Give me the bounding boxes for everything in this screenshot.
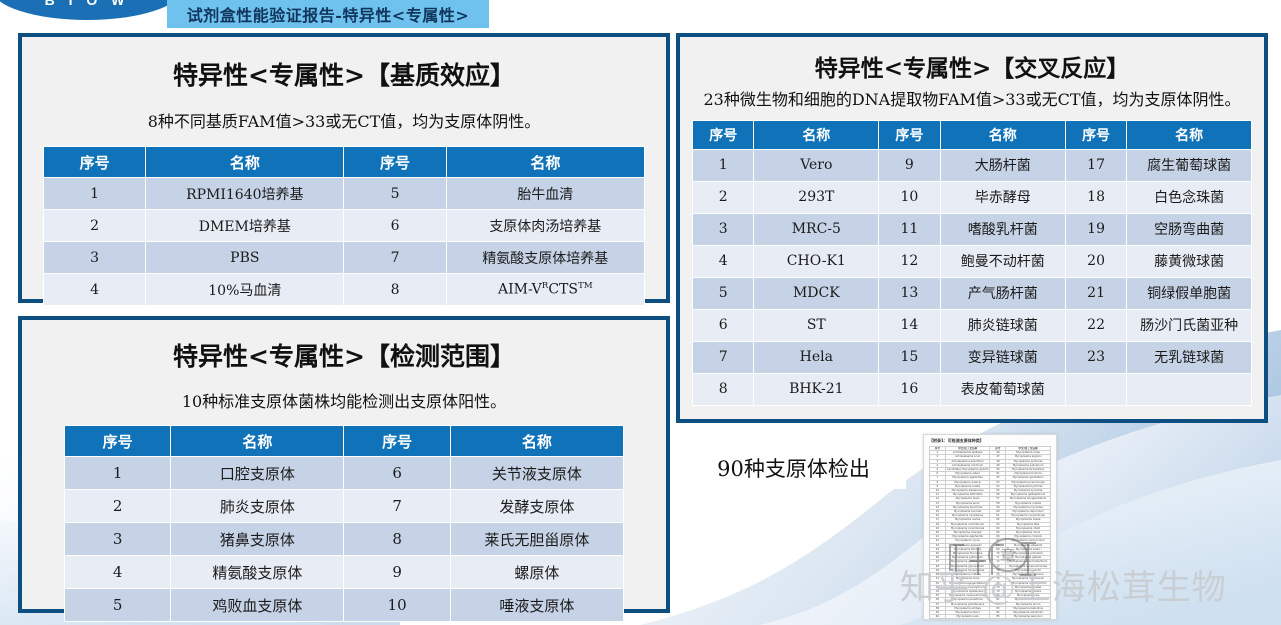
table-cell: 5 [693, 277, 754, 309]
table-cell: 10 [344, 589, 450, 622]
column-header: 序号 [879, 120, 940, 149]
table-cell: Mycoplasma yeatsii [945, 619, 990, 620]
table-cell: 5 [65, 589, 171, 622]
table-cell: Acholeplasma axanthum [945, 459, 990, 463]
panel-matrix-effect: 特异性<专属性>【基质效应】 8种不同基质FAM值>33或无CT值，均为支原体阴… [18, 33, 670, 303]
table-cell: 猪鼻支原体 [171, 523, 344, 556]
table-cell: 16 [879, 373, 940, 405]
table-cell: Hela [754, 341, 879, 373]
panel-cross-table-holder: 序号名称序号名称序号名称 1Vero9大肠杆菌17腐生葡萄球菌2293T10毕赤… [680, 120, 1264, 406]
table-cell: Mycoplasma gallisepticum [1006, 493, 1051, 497]
column-header: 序号 [693, 120, 754, 149]
panel-detection-range: 特异性<专属性>【检测范围】 10种标准支原体菌株均能检测出支原体阳性。 序号名… [18, 316, 670, 613]
table-cell: 19 [1065, 213, 1126, 245]
table-cell: 14 [879, 309, 940, 341]
table-cell: 发酵支原体 [450, 490, 623, 523]
column-header: 序号 [344, 426, 450, 457]
table-cell: 2 [65, 490, 171, 523]
table-cell: 8 [344, 274, 446, 306]
table-row: 1RPMI1640培养基5胎牛血清 [44, 178, 645, 210]
table-cell: 鸡败血支原体 [171, 589, 344, 622]
column-header: 名称 [754, 120, 879, 149]
column-header: 名称 [146, 147, 344, 178]
table-cell: 胎牛血清 [446, 178, 644, 210]
panel-range-table-holder: 序号名称序号名称 1口腔支原体6关节液支原体2肺炎支原体7发酵支原体3猪鼻支原体… [22, 425, 666, 622]
table-cell: 17 [1065, 149, 1126, 181]
table-cell: 15 [879, 341, 940, 373]
cross-reaction-table-body: 1Vero9大肠杆菌17腐生葡萄球菌2293T10毕赤酵母18白色念珠菌3MRC… [693, 149, 1252, 405]
table-cell: 肺炎链球菌 [940, 309, 1065, 341]
matrix-effect-table-body: 1RPMI1640培养基5胎牛血清2DMEM培养基6支原体肉汤培养基3PBS7精… [44, 178, 645, 306]
column-header: 序号 [65, 426, 171, 457]
watermark: 知乎 @上海松茸生物 [900, 560, 1227, 609]
table-cell: 2 [44, 210, 146, 242]
table-row: 3PBS7精氨酸支原体培养基 [44, 242, 645, 274]
table-cell: 3 [693, 213, 754, 245]
table-cell: 10%马血清 [146, 274, 344, 306]
table-cell: 293T [754, 181, 879, 213]
report-title-banner: 试剂盒性能验证报告-特异性<专属性> [167, 0, 489, 28]
table-row: 4精氨酸支原体9螺原体 [65, 556, 624, 589]
table-cell: PBS [146, 242, 344, 274]
table-cell: MDCK [754, 277, 879, 309]
table-cell: 21 [1065, 277, 1126, 309]
table-cell: 变异链球菌 [940, 341, 1065, 373]
table-cell: 铜绿假单胞菌 [1127, 277, 1252, 309]
table-row: 410%马血清8AIM-VRCTSTM [44, 274, 645, 306]
table-cell: Mycoplasma fermentans [1006, 468, 1051, 472]
table-cell: MRC-5 [754, 213, 879, 245]
column-header: 序号 [344, 147, 446, 178]
table-cell: 9 [344, 556, 450, 589]
panel-cross-reaction: 特异性<专属性>【交叉反应】 23种微生物和细胞的DNA提取物FAM值>33或无… [676, 33, 1268, 423]
table-cell [1127, 373, 1252, 405]
panel-cross-title: 特异性<专属性>【交叉反应】 [680, 49, 1264, 83]
table-cell: 支原体肉汤培养基 [446, 210, 644, 242]
table-cell: 7 [344, 242, 446, 274]
table-cell: 无乳链球菌 [1127, 341, 1252, 373]
table-cell: 20 [1065, 245, 1126, 277]
table-cell: 4 [44, 274, 146, 306]
table-cell [1065, 373, 1126, 405]
table-row: 6ST14肺炎链球菌22肠沙门氏菌亚种 [693, 309, 1252, 341]
table-row: 3MRC-511嗜酸乳杆菌19空肠弯曲菌 [693, 213, 1252, 245]
table-cell: 肠沙门氏菌亚种 [1127, 309, 1252, 341]
table-cell: 7 [693, 341, 754, 373]
table-row: 1口腔支原体6关节液支原体 [65, 457, 624, 490]
table-cell: Mycoplasma bovigenitalium [1006, 497, 1051, 501]
panel-matrix-title: 特异性<专属性>【基质效应】 [22, 56, 666, 92]
table-row: 7Hela15变异链球菌23无乳链球菌 [693, 341, 1252, 373]
table-cell: 1 [65, 457, 171, 490]
table-cell: BHK-21 [754, 373, 879, 405]
table-cell: Vero [754, 149, 879, 181]
table-cell: AIM-VRCTSTM [446, 274, 644, 306]
column-header: 序号 [44, 147, 146, 178]
table-cell: 6 [693, 309, 754, 341]
column-header: 名称 [450, 426, 623, 457]
table-row: 5鸡败血支原体10唾液支原体 [65, 589, 624, 622]
table-cell: 7 [344, 490, 450, 523]
table-row: 4CHO-K112鲍曼不动杆菌20藤黄微球菌 [693, 245, 1252, 277]
table-cell: 精氨酸支原体 [171, 556, 344, 589]
table-row: 3猪鼻支原体8莱氏无胆甾原体 [65, 523, 624, 556]
table-cell: 4 [65, 556, 171, 589]
table-cell: Mycoplasma alkalescens [945, 489, 990, 493]
table-cell: 唾液支原体 [450, 589, 623, 622]
table-cell: Mycoplasma pneumoniae [1006, 480, 1051, 484]
table-cell: Mycoplasma conjunctivae [1006, 514, 1051, 518]
table-row: 2肺炎支原体7发酵支原体 [65, 490, 624, 523]
table-header-row: 序号名称序号名称 [65, 426, 624, 457]
panel-matrix-table-holder: 序号名称序号名称 1RPMI1640培养基5胎牛血清2DMEM培养基6支原体肉汤… [22, 146, 666, 306]
table-cell: 8 [693, 373, 754, 405]
report-title-text: 试剂盒性能验证报告-特异性<专属性> [187, 2, 469, 26]
table-row: 41Mycoplasma yeatsii86Ureaplasma urealyt… [930, 619, 1051, 620]
panel-range-subtitle: 10种标准支原体菌株均能检测出支原体阳性。 [22, 388, 666, 412]
table-cell: 螺原体 [450, 556, 623, 589]
column-header: 名称 [446, 147, 644, 178]
table-cell: 莱氏无胆甾原体 [450, 523, 623, 556]
column-header: 序号 [1065, 120, 1126, 149]
table-cell: 精氨酸支原体培养基 [446, 242, 644, 274]
table-cell: 2 [693, 181, 754, 213]
table-cell: 肺炎支原体 [171, 490, 344, 523]
table-cell: Mycoplasma columbinum [945, 522, 990, 526]
table-cell: DMEM培养基 [146, 210, 344, 242]
table-cell: 10 [879, 181, 940, 213]
table-row: 8BHK-2116表皮葡萄球菌 [693, 373, 1252, 405]
table-cell: 1 [44, 178, 146, 210]
company-logo: B I O W [0, 0, 182, 20]
table-header-row: 序号名称序号名称 [44, 147, 645, 178]
table-cell: ST [754, 309, 879, 341]
table-cell: 大肠杆菌 [940, 149, 1065, 181]
table-cell: 空肠弯曲菌 [1127, 213, 1252, 245]
table-cell: 9 [879, 149, 940, 181]
callout-90-species: 90种支原体检出 [681, 447, 906, 489]
table-row: 2293T10毕赤酵母18白色念珠菌 [693, 181, 1252, 213]
table-cell: 藤黄微球菌 [1127, 245, 1252, 277]
table-cell: 8 [344, 523, 450, 556]
matrix-effect-table: 序号名称序号名称 1RPMI1640培养基5胎牛血清2DMEM培养基6支原体肉汤… [43, 146, 645, 306]
table-cell: 23 [1065, 341, 1126, 373]
appendix-thumbnail-caption: 【附录1：可检测支原体种类】 [924, 435, 1056, 446]
detection-range-table-body: 1口腔支原体6关节液支原体2肺炎支原体7发酵支原体3猪鼻支原体8莱氏无胆甾原体4… [65, 457, 624, 622]
table-cell: 口腔支原体 [171, 457, 344, 490]
table-cell: 13 [879, 277, 940, 309]
table-cell: Mycoplasma capricolum [1006, 510, 1051, 514]
table-cell: 4 [693, 245, 754, 277]
panel-cross-subtitle: 23种微生物和细胞的DNA提取物FAM值>33或无CT值，均为支原体阴性。 [680, 89, 1264, 111]
table-cell: 86 [990, 619, 1006, 620]
panel-range-title: 特异性<专属性>【检测范围】 [22, 337, 666, 373]
table-cell: 1 [693, 149, 754, 181]
table-cell: 6 [344, 457, 450, 490]
table-cell: Candidatus Mycoplasma girerdii [945, 468, 990, 472]
table-cell: 产气肠杆菌 [940, 277, 1065, 309]
slide-root: { "brand": { "logo_text": "B I O W" }, "… [0, 0, 1281, 625]
table-cell: 关节液支原体 [450, 457, 623, 490]
table-cell: Mycoplasma columborale [945, 526, 990, 530]
table-cell: 6 [344, 210, 446, 242]
table-cell: 12 [879, 245, 940, 277]
table-cell: 嗜酸乳杆菌 [940, 213, 1065, 245]
table-header-row: 序号名称序号名称序号名称 [693, 120, 1252, 149]
table-cell: 毕赤酵母 [940, 181, 1065, 213]
column-header: 名称 [171, 426, 344, 457]
table-cell: CHO-K1 [754, 245, 879, 277]
table-cell: 白色念珠菌 [1127, 181, 1252, 213]
cross-reaction-table: 序号名称序号名称序号名称 1Vero9大肠杆菌17腐生葡萄球菌2293T10毕赤… [692, 120, 1252, 406]
column-header: 名称 [1127, 120, 1252, 149]
table-cell: 腐生葡萄球菌 [1127, 149, 1252, 181]
callout-90-species-label: 90种支原体检出 [717, 453, 870, 483]
table-row: 5MDCK13产气肠杆菌21铜绿假单胞菌 [693, 277, 1252, 309]
table-cell: RPMI1640培养基 [146, 178, 344, 210]
table-cell: 41 [930, 619, 946, 620]
table-cell: 22 [1065, 309, 1126, 341]
table-cell: 18 [1065, 181, 1126, 213]
table-cell: 鲍曼不动杆菌 [940, 245, 1065, 277]
panel-matrix-subtitle: 8种不同基质FAM值>33或无CT值，均为支原体阴性。 [22, 108, 666, 132]
table-cell: 11 [879, 213, 940, 245]
table-cell: Ureaplasma urealyticum [1006, 619, 1051, 620]
table-row: 2DMEM培养基6支原体肉汤培养基 [44, 210, 645, 242]
table-row: 1Vero9大肠杆菌17腐生葡萄球菌 [693, 149, 1252, 181]
column-header: 名称 [940, 120, 1065, 149]
logo-text: B I O W [0, 0, 182, 8]
table-cell: 3 [44, 242, 146, 274]
table-cell: 表皮葡萄球菌 [940, 373, 1065, 405]
table-cell: 3 [65, 523, 171, 556]
detection-range-table: 序号名称序号名称 1口腔支原体6关节液支原体2肺炎支原体7发酵支原体3猪鼻支原体… [64, 425, 624, 622]
table-cell: 5 [344, 178, 446, 210]
